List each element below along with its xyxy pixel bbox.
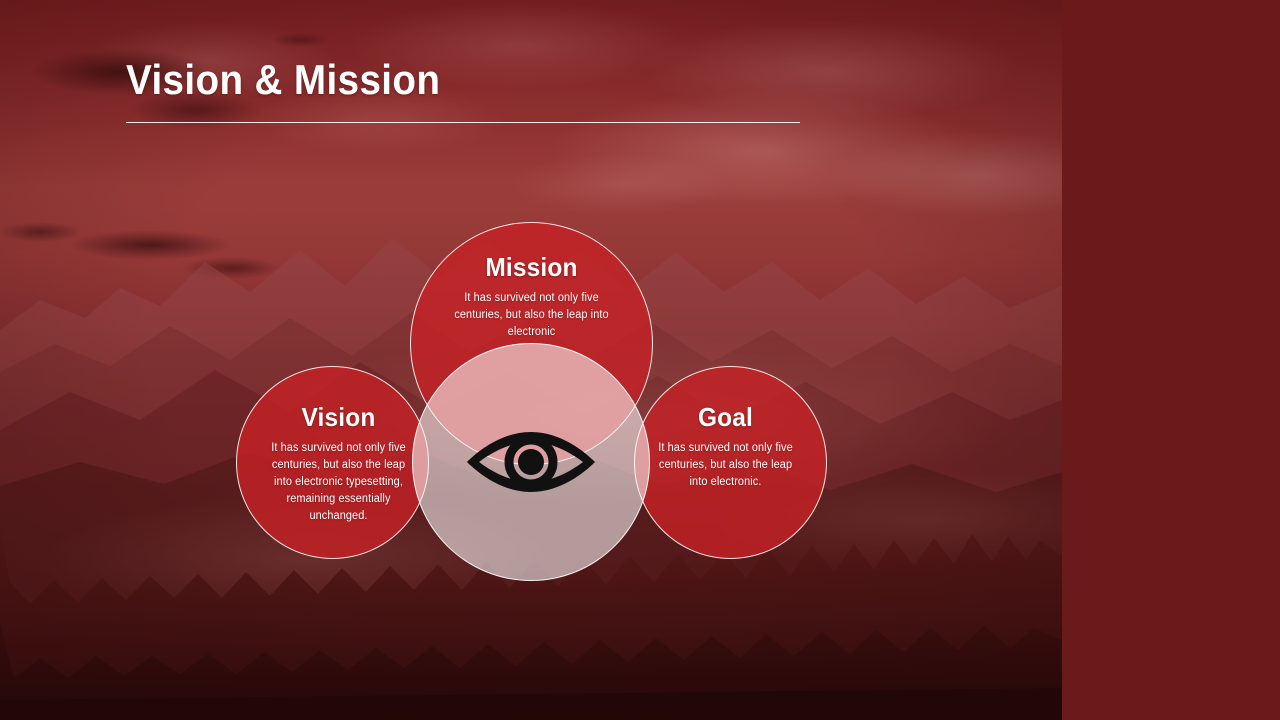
venn-circle-goal[interactable]: Goal It has survived not only five centu… bbox=[634, 366, 827, 559]
venn-circle-vision-title: Vision bbox=[269, 403, 407, 432]
right-side-panel bbox=[1062, 0, 1280, 720]
venn-circle-mission-text: It has survived not only five centuries,… bbox=[442, 290, 622, 341]
venn-circle-mission-title: Mission bbox=[443, 253, 621, 282]
venn-circle-goal-title: Goal bbox=[655, 403, 795, 432]
eye-icon bbox=[465, 428, 597, 496]
slide-canvas: Vision & Mission Vision It has survived … bbox=[0, 0, 1280, 720]
venn-diagram: Vision It has survived not only five cen… bbox=[0, 0, 1062, 720]
venn-circle-vision-text: It has survived not only five centuries,… bbox=[269, 440, 409, 525]
venn-circle-vision[interactable]: Vision It has survived not only five cen… bbox=[236, 366, 429, 559]
venn-circle-goal-content: Goal It has survived not only five centu… bbox=[635, 403, 826, 491]
venn-circle-vision-content: Vision It has survived not only five cen… bbox=[237, 403, 428, 525]
venn-circle-mission-content: Mission It has survived not only five ce… bbox=[411, 253, 652, 341]
venn-circle-goal-text: It has survived not only five centuries,… bbox=[655, 440, 797, 491]
